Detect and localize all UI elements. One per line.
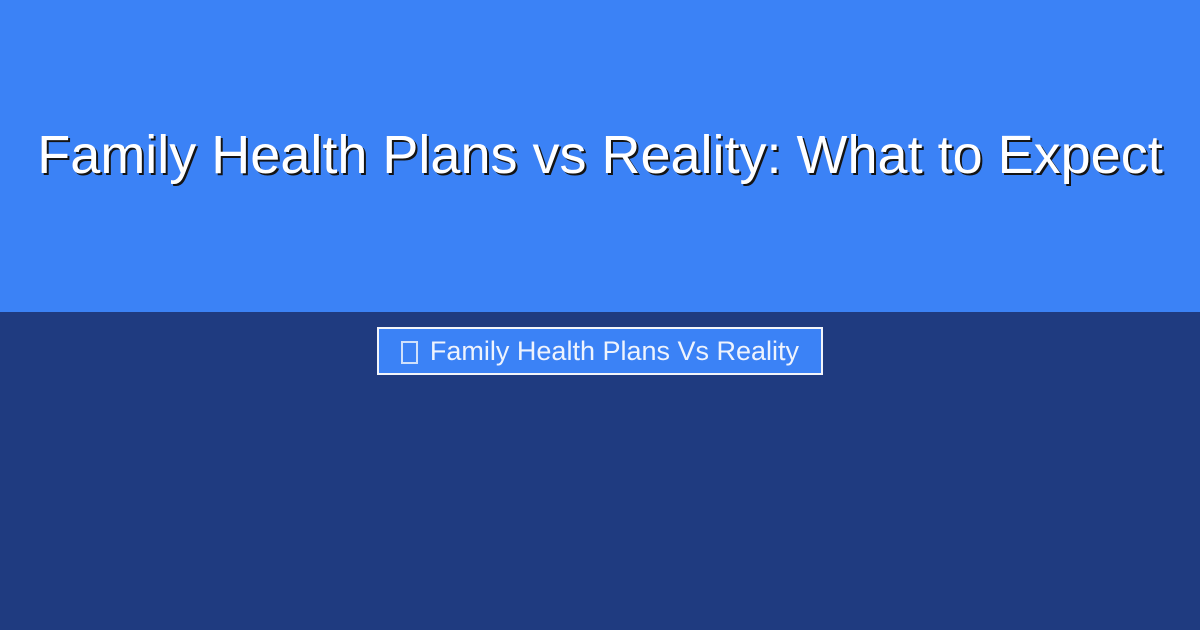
missing-glyph-box-icon (401, 341, 418, 364)
page-title: Family Health Plans vs Reality: What to … (0, 0, 1200, 312)
social-share-card: Family Health Plans vs Reality: What to … (0, 0, 1200, 630)
topic-badge-label: Family Health Plans Vs Reality (430, 338, 799, 365)
badge-container: Family Health Plans Vs Reality (0, 327, 1200, 375)
hero-band: Family Health Plans vs Reality: What to … (0, 0, 1200, 312)
topic-badge[interactable]: Family Health Plans Vs Reality (377, 327, 823, 375)
